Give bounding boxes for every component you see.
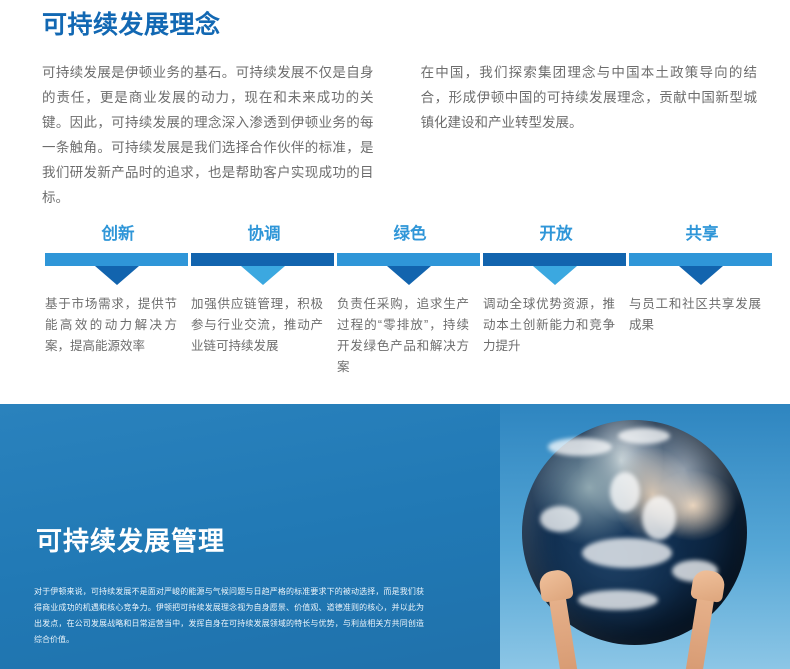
pillar-coordination: 协调 加强供应链管理，积极参与行业交流，推动产业链可持续发展 xyxy=(191,222,337,378)
pillar-header-sharing: 共享 xyxy=(629,222,775,248)
pillar-arrow-wrap-openness xyxy=(483,266,629,286)
page-title: 可持续发展理念 xyxy=(42,8,221,42)
intro-paragraph-left: 可持续发展是伊顿业务的基石。可持续发展不仅是自身的责任，更是商业发展的动力，现在… xyxy=(42,60,374,210)
cloud-shape xyxy=(618,428,670,444)
pillar-bar-innovation xyxy=(45,253,188,266)
pillar-innovation: 创新 基于市场需求，提供节能高效的动力解决方案，提高能源效率 xyxy=(45,222,191,378)
cloud-shape xyxy=(540,506,580,532)
banner-body-text: 对于伊顿来说，可持续发展不是面对严峻的能源与气候问题与日趋严格的标准要求下的被动… xyxy=(34,584,424,648)
pillar-green: 绿色 负责任采购，追求生产过程的“零排放”，持续开发绿色产品和解决方案 xyxy=(337,222,483,378)
sustainability-concept-section: 可持续发展理念 可持续发展是伊顿业务的基石。可持续发展不仅是自身的责任，更是商业… xyxy=(0,0,790,404)
pillar-openness: 开放 调动全球优势资源，推动本土创新能力和竞争力提升 xyxy=(483,222,629,378)
pillar-body-coordination: 加强供应链管理，积极参与行业交流，推动产业链可持续发展 xyxy=(191,294,337,357)
chevron-down-icon xyxy=(241,266,285,285)
pillar-bar-openness xyxy=(483,253,626,266)
pillar-body-sharing: 与员工和社区共享发展成果 xyxy=(629,294,775,336)
pillar-header-coordination: 协调 xyxy=(191,222,337,248)
pillars-row: 创新 基于市场需求，提供节能高效的动力解决方案，提高能源效率 协调 加强供应链管… xyxy=(45,222,775,378)
chevron-down-icon xyxy=(533,266,577,285)
chevron-down-icon xyxy=(95,266,139,285)
pillar-header-openness: 开放 xyxy=(483,222,629,248)
earth-globe-image xyxy=(522,420,772,669)
cloud-shape xyxy=(610,472,640,512)
pillar-arrow-wrap-green xyxy=(337,266,483,286)
cloud-shape xyxy=(548,438,612,456)
pillar-bar-sharing xyxy=(629,253,772,266)
pillar-arrow-wrap-innovation xyxy=(45,266,191,286)
pillar-body-green: 负责任采购，追求生产过程的“零排放”，持续开发绿色产品和解决方案 xyxy=(337,294,483,378)
intro-paragraph-columns: 可持续发展是伊顿业务的基石。可持续发展不仅是自身的责任，更是商业发展的动力，现在… xyxy=(42,60,757,210)
pillar-body-innovation: 基于市场需求，提供节能高效的动力解决方案，提高能源效率 xyxy=(45,294,191,357)
cloud-shape xyxy=(578,590,658,610)
pillar-body-openness: 调动全球优势资源，推动本土创新能力和竞争力提升 xyxy=(483,294,629,357)
intro-paragraph-right: 在中国，我们探索集团理念与中国本土政策导向的结合，形成伊顿中国的可持续发展理念，… xyxy=(421,60,757,210)
pillar-bar-coordination xyxy=(191,253,334,266)
chevron-down-icon xyxy=(679,266,723,285)
cloud-shape xyxy=(582,538,672,568)
pillar-header-innovation: 创新 xyxy=(45,222,191,248)
banner-title: 可持续发展管理 xyxy=(36,521,225,558)
pillar-arrow-wrap-sharing xyxy=(629,266,775,286)
pillar-arrow-wrap-coordination xyxy=(191,266,337,286)
pillar-sharing: 共享 与员工和社区共享发展成果 xyxy=(629,222,775,378)
cloud-shape xyxy=(642,496,676,540)
pillar-header-green: 绿色 xyxy=(337,222,483,248)
chevron-down-icon xyxy=(387,266,431,285)
sustainability-management-banner: 可持续发展管理 对于伊顿来说，可持续发展不是面对严峻的能源与气候问题与日趋严格的… xyxy=(0,404,790,669)
pillar-bar-green xyxy=(337,253,480,266)
